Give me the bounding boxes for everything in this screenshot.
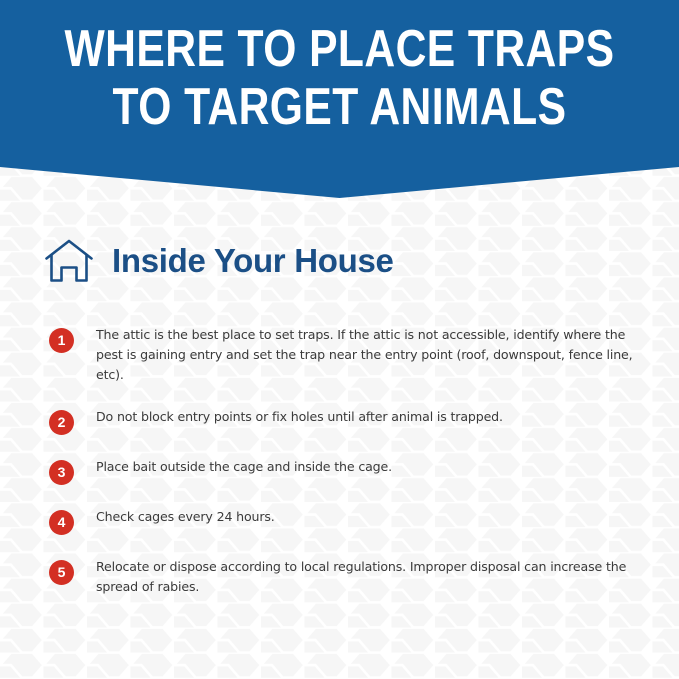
section-heading: Inside Your House <box>44 232 394 290</box>
banner-title: WHERE TO PLACE TRAPS TO TARGET ANIMALS <box>0 20 679 136</box>
list-item-text: Place bait outside the cage and inside t… <box>96 457 639 477</box>
list-item-number-badge: 2 <box>49 410 74 435</box>
infographic-page: WHERE TO PLACE TRAPS TO TARGET ANIMALS I… <box>0 0 679 679</box>
list-item-number-badge: 1 <box>49 328 74 353</box>
house-icon <box>44 238 94 284</box>
list-item: 2 Do not block entry points or fix holes… <box>0 407 679 435</box>
list-item-number-badge: 5 <box>49 560 74 585</box>
header-banner: WHERE TO PLACE TRAPS TO TARGET ANIMALS <box>0 0 679 200</box>
section-heading-label: Inside Your House <box>112 243 394 279</box>
banner-title-line-2: TO TARGET ANIMALS <box>61 78 618 136</box>
list-item-number-badge: 3 <box>49 460 74 485</box>
list-item: 5 Relocate or dispose according to local… <box>0 557 679 597</box>
list-item-text: Do not block entry points or fix holes u… <box>96 407 639 427</box>
list-item: 1 The attic is the best place to set tra… <box>0 325 679 385</box>
list-item-number-badge: 4 <box>49 510 74 535</box>
list-item-text: Relocate or dispose according to local r… <box>96 557 639 597</box>
list-item: 4 Check cages every 24 hours. <box>0 507 679 535</box>
list-item-text: Check cages every 24 hours. <box>96 507 639 527</box>
instruction-list: 1 The attic is the best place to set tra… <box>0 325 679 619</box>
list-item-text: The attic is the best place to set traps… <box>96 325 639 385</box>
banner-title-line-1: WHERE TO PLACE TRAPS <box>61 20 618 78</box>
list-item: 3 Place bait outside the cage and inside… <box>0 457 679 485</box>
